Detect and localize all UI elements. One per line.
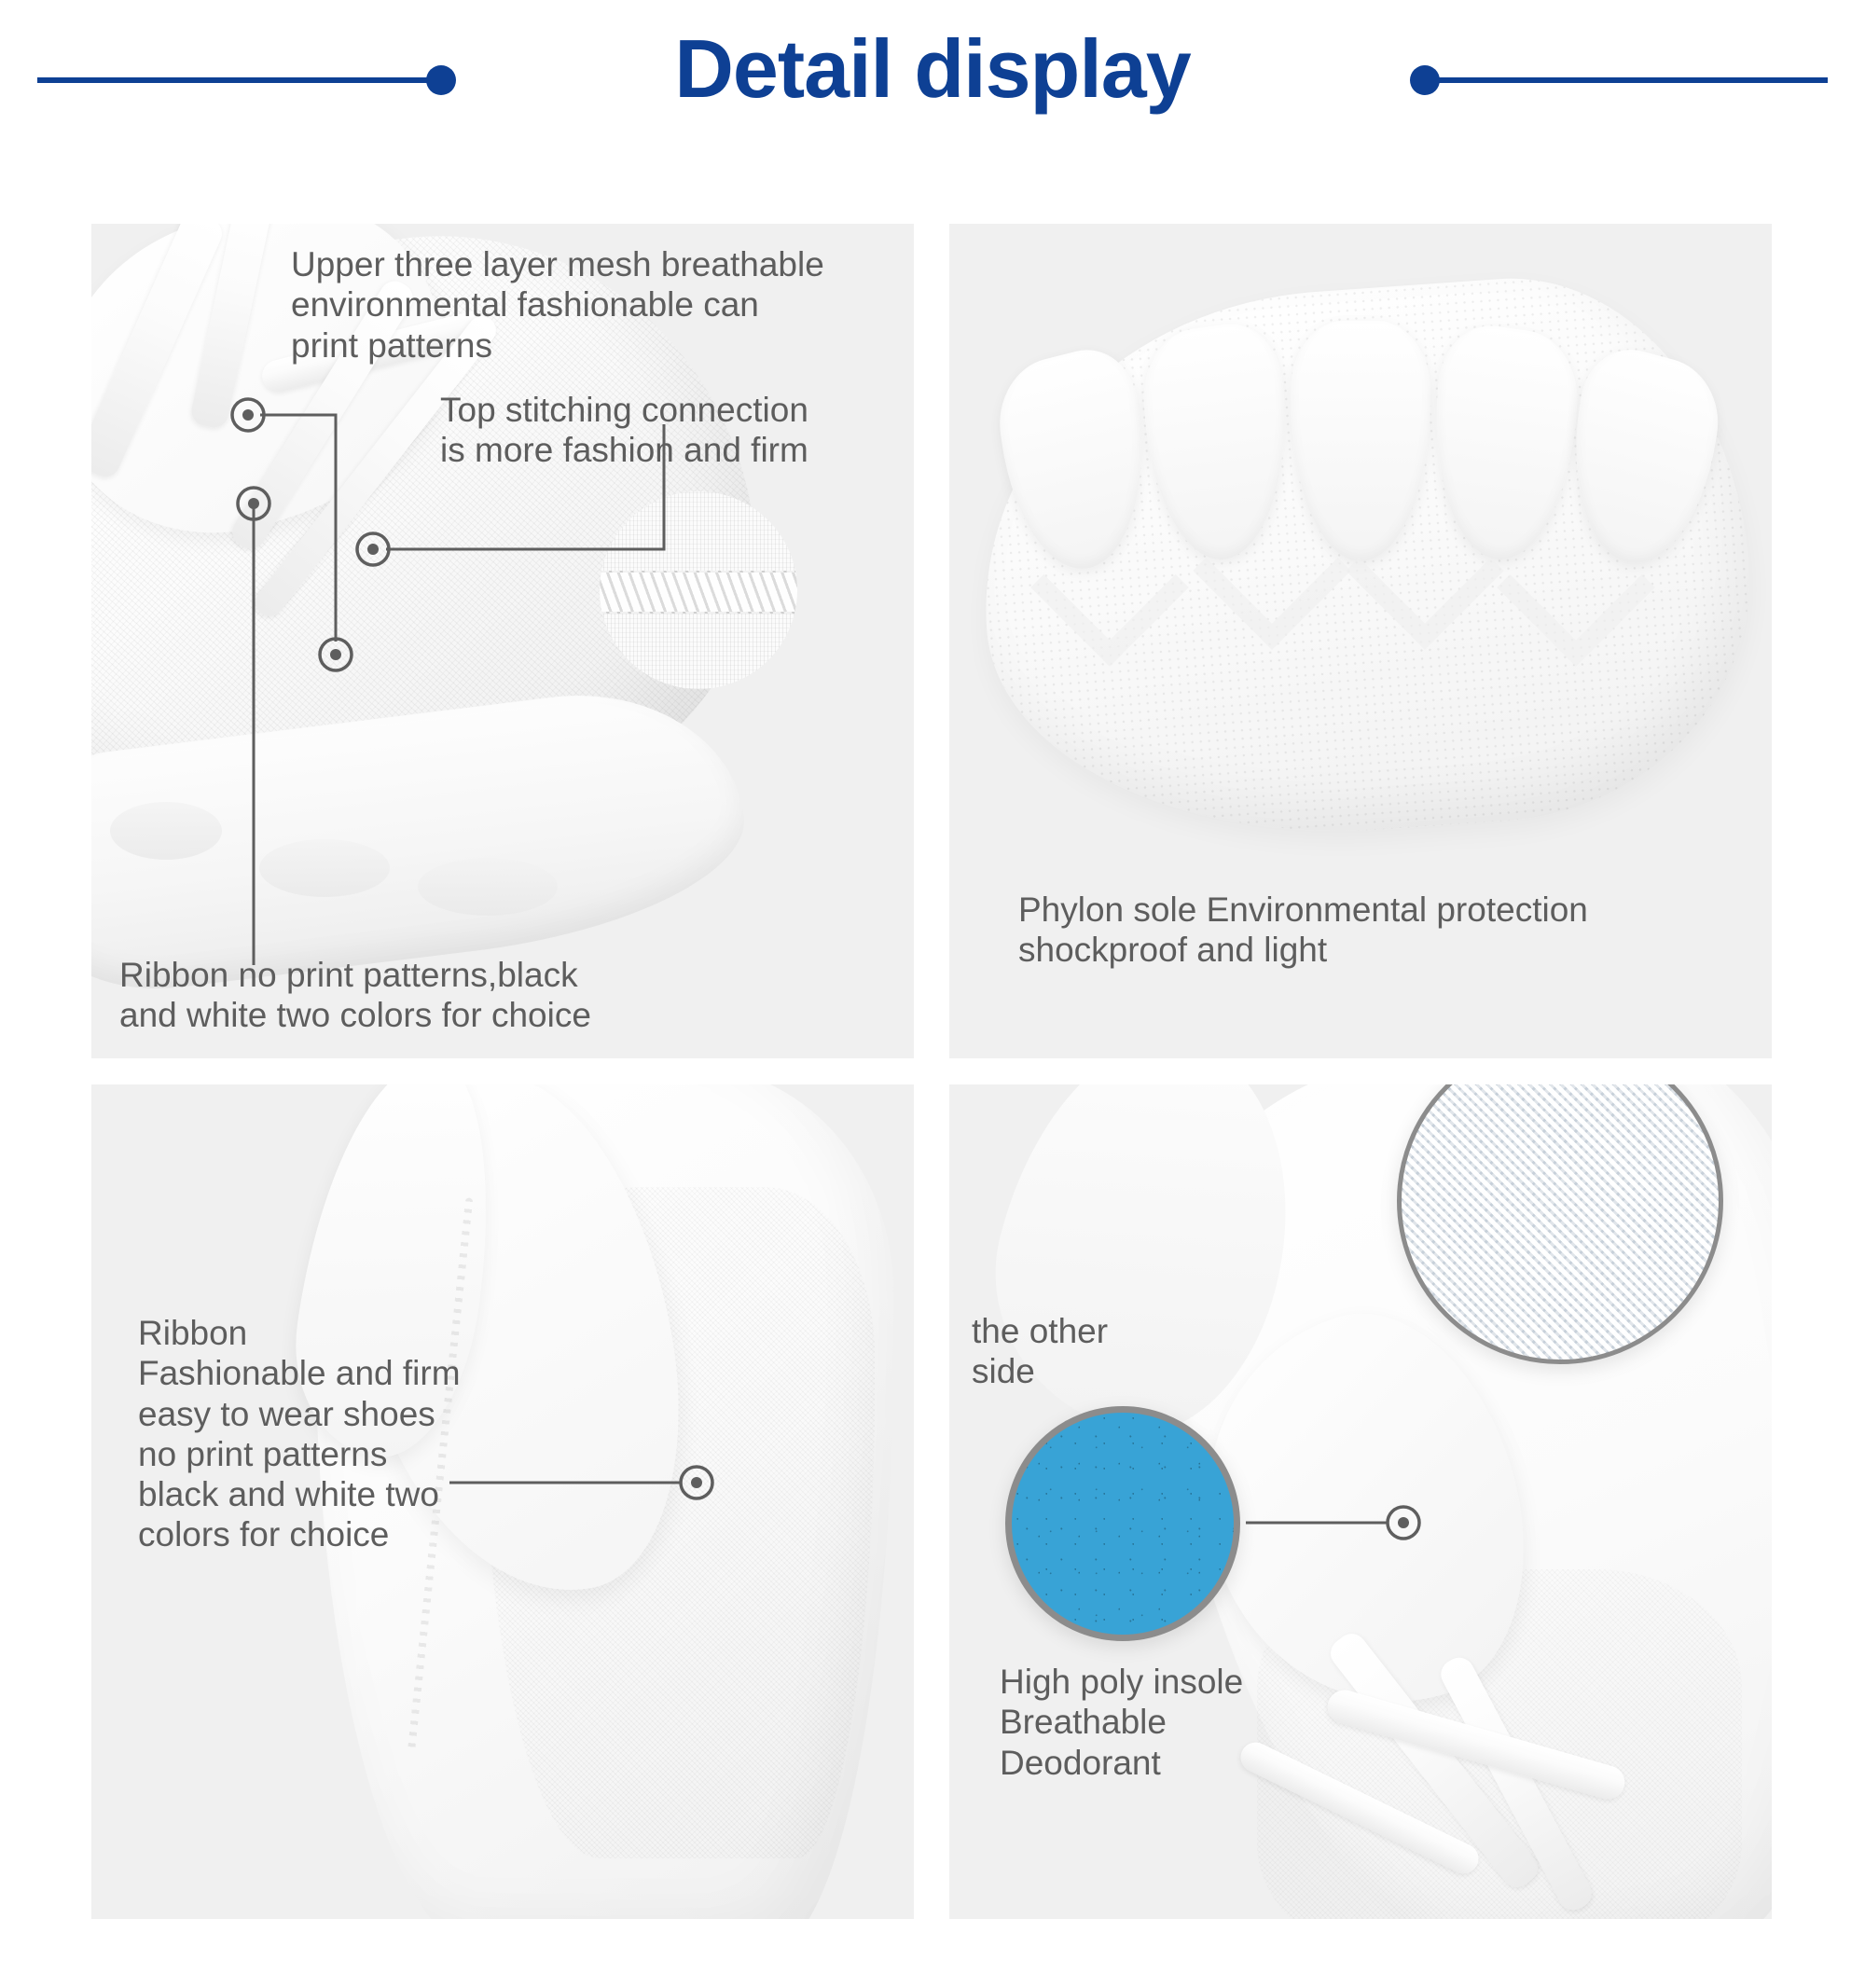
caption-phylon-sole: Phylon sole Environmental protection sho… [1018, 890, 1727, 971]
caption-upper-mesh: Upper three layer mesh breathable enviro… [291, 244, 925, 366]
page-title: Detail display [0, 13, 1865, 125]
midsole-notch [418, 858, 558, 916]
insole-blue-macro-circle [1005, 1406, 1240, 1641]
midsole-notch [110, 802, 222, 860]
midsole-notch [259, 839, 390, 897]
stitch-macro-circle [600, 491, 797, 689]
stitch-band [600, 571, 797, 614]
panel-insole [949, 1084, 1772, 1919]
caption-ribbon-detail: Ribbon Fashionable and firm easy to wear… [138, 1313, 548, 1555]
caption-ribbon-colors: Ribbon no print patterns,black and white… [119, 955, 679, 1036]
caption-high-poly-insole: High poly insole Breathable Deodorant [1000, 1662, 1317, 1783]
caption-top-stitching: Top stitching connection is more fashion… [440, 390, 888, 471]
caption-other-side: the other side [972, 1311, 1177, 1392]
page-header: Detail display [0, 0, 1865, 159]
